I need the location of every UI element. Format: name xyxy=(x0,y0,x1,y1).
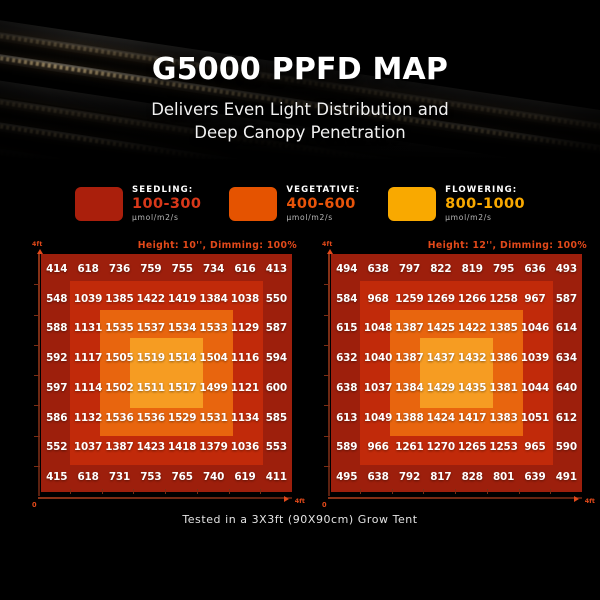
ppfd-cell-r2-c4: 1422 xyxy=(457,314,488,344)
ppfd-cell-r1-c4: 1266 xyxy=(457,284,488,314)
ppfd-cell-r4-c3: 1511 xyxy=(135,373,166,403)
ppfd-cell-r0-c7: 493 xyxy=(551,254,582,284)
x-axis-tick xyxy=(392,489,393,494)
ppfd-cell-r3-c7: 594 xyxy=(261,343,292,373)
ppfd-cell-r3-c3: 1437 xyxy=(425,343,456,373)
legend-text: SEEDLING:100-300μmol/m2/s xyxy=(132,186,201,222)
ppfd-cell-r1-c0: 548 xyxy=(41,284,72,314)
page-subtitle: Delivers Even Light Distribution and Dee… xyxy=(0,98,600,145)
legend-text: FLOWERING:800-1000μmol/m2/s xyxy=(445,186,525,222)
x-axis-tick xyxy=(165,489,166,494)
ppfd-cell-r4-c0: 638 xyxy=(331,373,362,403)
ppfd-cell-r0-c6: 616 xyxy=(229,254,260,284)
ppfd-cell-r0-c4: 819 xyxy=(457,254,488,284)
legend-stage-label: VEGETATIVE: xyxy=(286,186,360,195)
ppfd-cell-r7-c1: 618 xyxy=(72,462,103,492)
ppfd-cell-r1-c6: 1038 xyxy=(229,284,260,314)
ppfd-map-right: Height: 12'', Dimming: 100% 4ft 49463879… xyxy=(308,240,593,508)
ppfd-cell-r2-c1: 1131 xyxy=(72,314,103,344)
subtitle-line-1: Delivers Even Light Distribution and xyxy=(0,98,600,121)
x-axis-tick xyxy=(260,489,261,494)
ppfd-cell-r0-c6: 636 xyxy=(519,254,550,284)
ppfd-cell-r4-c2: 1502 xyxy=(104,373,135,403)
x-axis-tick xyxy=(360,489,361,494)
x-axis-left xyxy=(38,497,292,499)
x-axis-ticks-right xyxy=(328,489,582,497)
ppfd-cell-r6-c3: 1270 xyxy=(425,433,456,463)
ppfd-cell-r1-c5: 1384 xyxy=(198,284,229,314)
ppfd-cell-r6-c2: 1387 xyxy=(104,433,135,463)
x-axis-tick xyxy=(70,489,71,494)
x-axis-right xyxy=(328,497,582,499)
ppfd-cell-r2-c6: 1046 xyxy=(519,314,550,344)
ppfd-grid-left: 4146187367597557346164135481039138514221… xyxy=(41,254,292,492)
ppfd-cell-r6-c7: 553 xyxy=(261,433,292,463)
y-axis-tick xyxy=(34,315,40,316)
legend-swatch xyxy=(388,187,436,221)
ppfd-cell-r2-c2: 1535 xyxy=(104,314,135,344)
ppfd-cell-r4-c0: 597 xyxy=(41,373,72,403)
title-block: G5000 PPFD MAP Delivers Even Light Distr… xyxy=(0,0,600,145)
ppfd-cell-r0-c5: 795 xyxy=(488,254,519,284)
ppfd-cell-r6-c6: 965 xyxy=(519,433,550,463)
ppfd-cell-r6-c2: 1261 xyxy=(394,433,425,463)
ppfd-cell-r6-c1: 966 xyxy=(362,433,393,463)
ppfd-cell-r2-c3: 1537 xyxy=(135,314,166,344)
ppfd-cell-r4-c5: 1381 xyxy=(488,373,519,403)
ppfd-cell-r0-c3: 759 xyxy=(135,254,166,284)
ppfd-cell-r7-c2: 731 xyxy=(104,462,135,492)
ppfd-cell-r7-c0: 495 xyxy=(331,462,362,492)
ppfd-cell-r3-c6: 1116 xyxy=(229,343,260,373)
map-header-right: Height: 12'', Dimming: 100% xyxy=(428,240,587,251)
ppfd-cell-r0-c0: 414 xyxy=(41,254,72,284)
ppfd-cell-r3-c6: 1039 xyxy=(519,343,550,373)
ppfd-cell-r4-c7: 640 xyxy=(551,373,582,403)
ppfd-cell-r1-c7: 550 xyxy=(261,284,292,314)
ppfd-cell-r1-c2: 1259 xyxy=(394,284,425,314)
ppfd-cell-r0-c5: 734 xyxy=(198,254,229,284)
test-caption: Tested in a 3X3ft (90X90cm) Grow Tent xyxy=(0,513,600,526)
y-axis-tick xyxy=(324,466,330,467)
legend-item-0: SEEDLING:100-300μmol/m2/s xyxy=(75,186,201,222)
ppfd-cell-r1-c3: 1269 xyxy=(425,284,456,314)
bottom-filler xyxy=(0,540,600,600)
ppfd-cell-r1-c3: 1422 xyxy=(135,284,166,314)
ppfd-cell-r7-c2: 792 xyxy=(394,462,425,492)
ppfd-cell-r0-c2: 797 xyxy=(394,254,425,284)
ppfd-cell-r7-c3: 753 xyxy=(135,462,166,492)
ppfd-cell-r4-c6: 1044 xyxy=(519,373,550,403)
ppfd-cell-r5-c5: 1531 xyxy=(198,403,229,433)
ppfd-cell-r5-c2: 1388 xyxy=(394,403,425,433)
ppfd-cell-r3-c2: 1387 xyxy=(394,343,425,373)
ppfd-cell-r2-c0: 615 xyxy=(331,314,362,344)
ppfd-cell-r5-c6: 1051 xyxy=(519,403,550,433)
x-axis-max-label-left: 4ft xyxy=(295,497,305,505)
x-axis-tick xyxy=(229,489,230,494)
x-axis-max-label-right: 4ft xyxy=(585,497,595,505)
x-axis-tick xyxy=(487,489,488,494)
ppfd-cell-r0-c7: 413 xyxy=(261,254,292,284)
legend-stage-label: FLOWERING: xyxy=(445,186,525,195)
x-axis-arrow-icon xyxy=(284,496,289,502)
y-axis-tick xyxy=(34,375,40,376)
ppfd-cell-r5-c3: 1536 xyxy=(135,403,166,433)
ppfd-cell-r0-c0: 494 xyxy=(331,254,362,284)
ppfd-cell-r2-c6: 1129 xyxy=(229,314,260,344)
legend-unit-label: μmol/m2/s xyxy=(132,214,201,222)
ppfd-map-left: Height: 10'', Dimming: 100% 4ft 41461873… xyxy=(18,240,303,508)
x-axis-tick xyxy=(550,489,551,494)
ppfd-cell-r7-c6: 619 xyxy=(229,462,260,492)
ppfd-cell-r6-c4: 1265 xyxy=(457,433,488,463)
ppfd-cell-r1-c6: 967 xyxy=(519,284,550,314)
legend-swatch xyxy=(229,187,277,221)
ppfd-cell-r3-c7: 634 xyxy=(551,343,582,373)
ppfd-cell-r4-c1: 1114 xyxy=(72,373,103,403)
ppfd-cell-r6-c4: 1418 xyxy=(167,433,198,463)
ppfd-cell-r5-c7: 585 xyxy=(261,403,292,433)
ppfd-cell-r5-c4: 1529 xyxy=(167,403,198,433)
legend-item-1: VEGETATIVE:400-600μmol/m2/s xyxy=(229,186,360,222)
y-axis-tick xyxy=(324,405,330,406)
ppfd-cell-r3-c4: 1514 xyxy=(167,343,198,373)
ppfd-cell-r7-c1: 638 xyxy=(362,462,393,492)
ppfd-cell-r3-c4: 1432 xyxy=(457,343,488,373)
ppfd-cell-r2-c2: 1387 xyxy=(394,314,425,344)
ppfd-cell-r4-c3: 1429 xyxy=(425,373,456,403)
ppfd-cell-r7-c6: 639 xyxy=(519,462,550,492)
ppfd-cell-r3-c5: 1504 xyxy=(198,343,229,373)
x-axis-tick xyxy=(519,489,520,494)
ppfd-cell-r0-c1: 638 xyxy=(362,254,393,284)
ppfd-cell-r2-c5: 1385 xyxy=(488,314,519,344)
legend-unit-label: μmol/m2/s xyxy=(286,214,360,222)
ppfd-cell-r5-c6: 1134 xyxy=(229,403,260,433)
ppfd-cell-r6-c0: 589 xyxy=(331,433,362,463)
ppfd-cells-right: 4946387978228197956364935849681259126912… xyxy=(331,254,582,492)
ppfd-cell-r6-c5: 1253 xyxy=(488,433,519,463)
ppfd-legend: SEEDLING:100-300μmol/m2/sVEGETATIVE:400-… xyxy=(0,181,600,227)
ppfd-cell-r1-c1: 968 xyxy=(362,284,393,314)
x-axis-ticks-left xyxy=(38,489,292,497)
y-axis-tick xyxy=(34,405,40,406)
ppfd-cell-r0-c1: 618 xyxy=(72,254,103,284)
legend-item-2: FLOWERING:800-1000μmol/m2/s xyxy=(388,186,525,222)
ppfd-cell-r1-c1: 1039 xyxy=(72,284,103,314)
legend-stage-label: SEEDLING: xyxy=(132,186,201,195)
ppfd-map-container: Height: 10'', Dimming: 100% 4ft 41461873… xyxy=(0,240,600,510)
ppfd-cell-r6-c5: 1379 xyxy=(198,433,229,463)
ppfd-cell-r5-c1: 1132 xyxy=(72,403,103,433)
map-header-left: Height: 10'', Dimming: 100% xyxy=(138,240,297,251)
ppfd-cell-r3-c0: 592 xyxy=(41,343,72,373)
ppfd-cell-r3-c1: 1040 xyxy=(362,343,393,373)
y-axis-tick xyxy=(34,466,40,467)
legend-range-value: 800-1000 xyxy=(445,197,525,212)
ppfd-cell-r2-c4: 1534 xyxy=(167,314,198,344)
y-axis-tick xyxy=(324,315,330,316)
ppfd-cell-r4-c7: 600 xyxy=(261,373,292,403)
y-axis-max-label-left: 4ft xyxy=(32,241,43,248)
ppfd-cell-r5-c1: 1049 xyxy=(362,403,393,433)
legend-unit-label: μmol/m2/s xyxy=(445,214,525,222)
ppfd-cell-r5-c3: 1424 xyxy=(425,403,456,433)
ppfd-cell-r4-c1: 1037 xyxy=(362,373,393,403)
ppfd-cell-r2-c7: 587 xyxy=(261,314,292,344)
ppfd-cell-r2-c0: 588 xyxy=(41,314,72,344)
ppfd-cell-r0-c3: 822 xyxy=(425,254,456,284)
ppfd-cell-r4-c4: 1435 xyxy=(457,373,488,403)
x-axis-tick xyxy=(102,489,103,494)
ppfd-cell-r5-c4: 1417 xyxy=(457,403,488,433)
ppfd-cell-r2-c7: 614 xyxy=(551,314,582,344)
x-axis-arrow-icon xyxy=(574,496,579,502)
ppfd-grid-right: 4946387978228197956364935849681259126912… xyxy=(331,254,582,492)
legend-swatch xyxy=(75,187,123,221)
ppfd-cell-r1-c7: 587 xyxy=(551,284,582,314)
ppfd-cell-r7-c5: 801 xyxy=(488,462,519,492)
ppfd-cell-r6-c6: 1036 xyxy=(229,433,260,463)
ppfd-cell-r1-c4: 1419 xyxy=(167,284,198,314)
ppfd-cell-r5-c7: 612 xyxy=(551,403,582,433)
ppfd-cell-r7-c7: 491 xyxy=(551,462,582,492)
y-axis-tick xyxy=(324,436,330,437)
x-axis-tick xyxy=(423,489,424,494)
ppfd-cell-r7-c4: 828 xyxy=(457,462,488,492)
ppfd-cell-r7-c7: 411 xyxy=(261,462,292,492)
ppfd-cell-r6-c3: 1423 xyxy=(135,433,166,463)
y-axis-max-label-right: 4ft xyxy=(322,241,333,248)
ppfd-cell-r4-c5: 1499 xyxy=(198,373,229,403)
ppfd-cell-r0-c2: 736 xyxy=(104,254,135,284)
y-axis-tick xyxy=(34,284,40,285)
ppfd-cell-r5-c0: 586 xyxy=(41,403,72,433)
ppfd-cell-r3-c1: 1117 xyxy=(72,343,103,373)
ppfd-cell-r3-c0: 632 xyxy=(331,343,362,373)
ppfd-cell-r7-c3: 817 xyxy=(425,462,456,492)
ppfd-cell-r4-c6: 1121 xyxy=(229,373,260,403)
ppfd-cell-r5-c5: 1383 xyxy=(488,403,519,433)
ppfd-cell-r1-c5: 1258 xyxy=(488,284,519,314)
y-axis-tick xyxy=(34,436,40,437)
ppfd-cell-r6-c1: 1037 xyxy=(72,433,103,463)
ppfd-cell-r1-c0: 584 xyxy=(331,284,362,314)
legend-text: VEGETATIVE:400-600μmol/m2/s xyxy=(286,186,360,222)
ppfd-cell-r7-c0: 415 xyxy=(41,462,72,492)
ppfd-cell-r0-c4: 755 xyxy=(167,254,198,284)
ppfd-cells-left: 4146187367597557346164135481039138514221… xyxy=(41,254,292,492)
ppfd-cell-r3-c3: 1519 xyxy=(135,343,166,373)
ppfd-cell-r2-c5: 1533 xyxy=(198,314,229,344)
ppfd-cell-r4-c4: 1517 xyxy=(167,373,198,403)
x-axis-origin-label-right: 0 xyxy=(322,501,327,509)
subtitle-line-2: Deep Canopy Penetration xyxy=(0,121,600,144)
ppfd-cell-r2-c1: 1048 xyxy=(362,314,393,344)
x-axis-origin-label-left: 0 xyxy=(32,501,37,509)
ppfd-cell-r6-c0: 552 xyxy=(41,433,72,463)
y-axis-tick xyxy=(324,345,330,346)
y-axis-tick xyxy=(34,345,40,346)
ppfd-cell-r7-c4: 765 xyxy=(167,462,198,492)
x-axis-tick xyxy=(455,489,456,494)
ppfd-cell-r1-c2: 1385 xyxy=(104,284,135,314)
y-axis-tick xyxy=(324,284,330,285)
ppfd-cell-r4-c2: 1384 xyxy=(394,373,425,403)
ppfd-cell-r6-c7: 590 xyxy=(551,433,582,463)
ppfd-cell-r5-c0: 613 xyxy=(331,403,362,433)
page-title: G5000 PPFD MAP xyxy=(0,52,600,87)
ppfd-cell-r3-c5: 1386 xyxy=(488,343,519,373)
x-axis-tick xyxy=(133,489,134,494)
ppfd-cell-r2-c3: 1425 xyxy=(425,314,456,344)
ppfd-cell-r3-c2: 1505 xyxy=(104,343,135,373)
legend-range-value: 100-300 xyxy=(132,197,201,212)
ppfd-cell-r7-c5: 740 xyxy=(198,462,229,492)
legend-range-value: 400-600 xyxy=(286,197,360,212)
x-axis-tick xyxy=(197,489,198,494)
y-axis-tick xyxy=(324,375,330,376)
ppfd-cell-r5-c2: 1536 xyxy=(104,403,135,433)
